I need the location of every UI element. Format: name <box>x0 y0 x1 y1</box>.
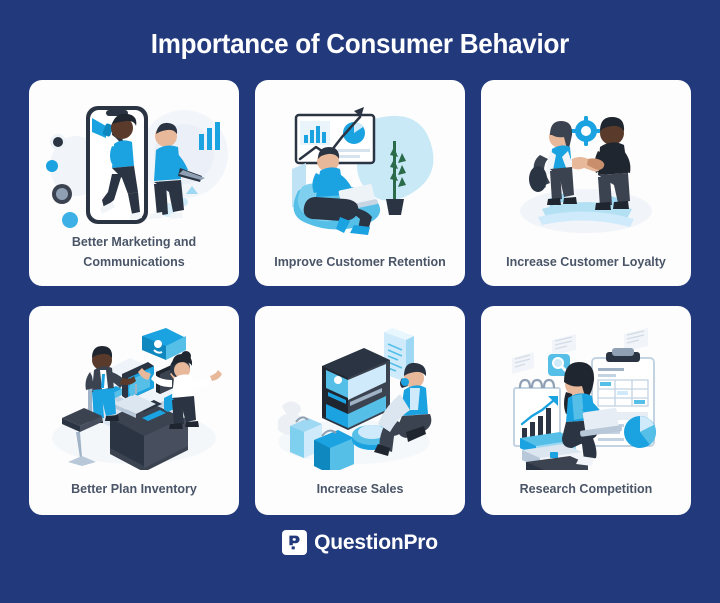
cards-grid: Better Marketing and Communications <box>29 80 691 515</box>
card-label: Better Marketing and Communications <box>29 233 239 286</box>
handshake-loyalty-icon <box>481 80 691 253</box>
office-desk-inventory-icon <box>29 306 239 480</box>
questionpro-logo-icon <box>282 530 307 555</box>
research-clipboard-charts-icon <box>481 306 691 480</box>
card-better-plan-inventory[interactable]: Better Plan Inventory <box>29 306 239 515</box>
brand-name: QuestionPro <box>314 531 438 555</box>
card-increase-sales[interactable]: Increase Sales <box>255 306 465 515</box>
card-label: Better Plan Inventory <box>29 480 239 515</box>
infographic-root: Importance of Consumer Behavior <box>0 0 720 603</box>
brand-footer: QuestionPro <box>282 530 438 555</box>
megaphone-phone-marketing-icon <box>29 80 239 233</box>
card-label: Improve Customer Retention <box>255 253 465 286</box>
card-better-marketing-and-communications[interactable]: Better Marketing and Communications <box>29 80 239 286</box>
beanbag-laptop-dashboard-icon <box>255 80 465 253</box>
card-improve-customer-retention[interactable]: Improve Customer Retention <box>255 80 465 286</box>
card-label: Research Competition <box>481 480 691 515</box>
online-shopping-sales-icon <box>255 306 465 480</box>
card-increase-customer-loyalty[interactable]: Increase Customer Loyalty <box>481 80 691 286</box>
card-research-competition[interactable]: Research Competition <box>481 306 691 515</box>
card-label: Increase Sales <box>255 480 465 515</box>
page-title: Importance of Consumer Behavior <box>151 30 569 58</box>
card-label: Increase Customer Loyalty <box>481 253 691 286</box>
